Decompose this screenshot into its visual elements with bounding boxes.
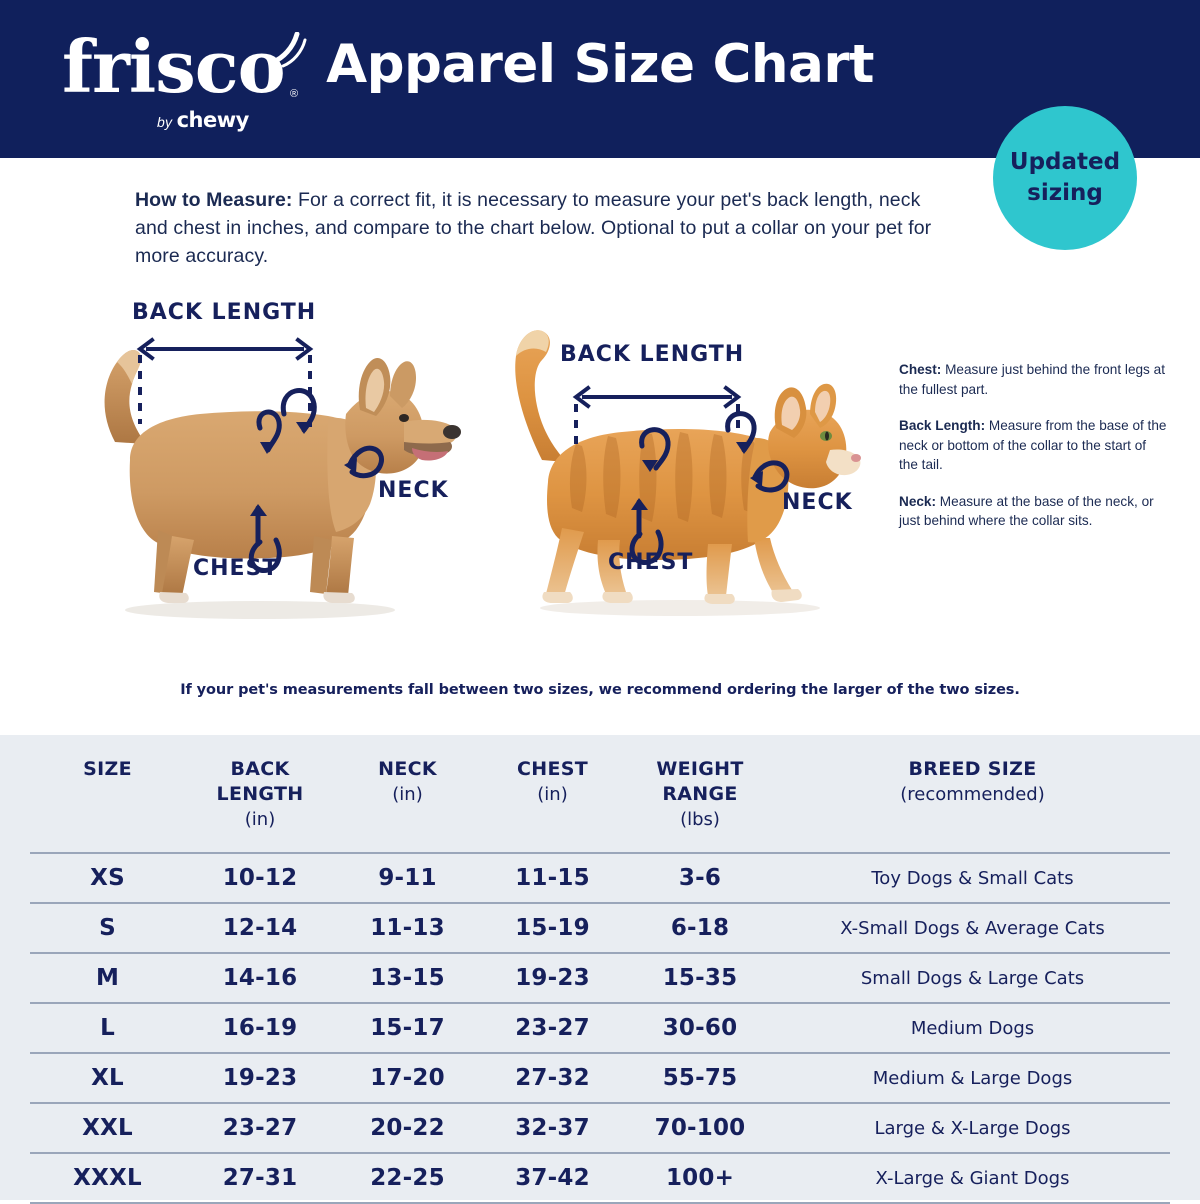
- cell-breed: Small Dogs & Large Cats: [775, 953, 1170, 1003]
- cell-size: L: [30, 1003, 185, 1053]
- cell-chest: 23-27: [480, 1003, 625, 1053]
- how-to-measure-paragraph: How to Measure: For a correct fit, it is…: [135, 186, 945, 270]
- cell-size: S: [30, 903, 185, 953]
- cell-chest: 27-32: [480, 1053, 625, 1103]
- cell-weight: 15-35: [625, 953, 775, 1003]
- cell-neck: 11-13: [335, 903, 480, 953]
- cell-neck: 22-25: [335, 1153, 480, 1203]
- cell-size: XS: [30, 853, 185, 903]
- cell-weight: 55-75: [625, 1053, 775, 1103]
- fit-recommendation-note: If your pet's measurements fall between …: [0, 682, 1200, 698]
- how-to-measure-label: How to Measure:: [135, 189, 293, 211]
- table-row: XXL 23-27 20-22 32-37 70-100 Large & X-L…: [30, 1103, 1170, 1153]
- table-row: XL 19-23 17-20 27-32 55-75 Medium & Larg…: [30, 1053, 1170, 1103]
- cell-weight: 3-6: [625, 853, 775, 903]
- column-header-chest: CHEST (in): [480, 735, 625, 853]
- logo-by-text: by: [157, 114, 172, 130]
- definition-chest-term: Chest:: [899, 362, 941, 377]
- column-header-weight-range-main: WEIGHT RANGE: [627, 757, 773, 807]
- cell-neck: 20-22: [335, 1103, 480, 1153]
- column-header-size: SIZE: [30, 735, 185, 853]
- size-table-header-row: SIZE BACK LENGTH (in) NECK (in) CHEST (i…: [30, 735, 1170, 853]
- column-header-chest-unit: (in): [482, 782, 623, 807]
- column-header-size-main: SIZE: [32, 757, 183, 782]
- cat-chest-label: CHEST: [608, 550, 693, 575]
- table-row: S 12-14 11-13 15-19 6-18 X-Small Dogs & …: [30, 903, 1170, 953]
- cell-weight: 70-100: [625, 1103, 775, 1153]
- column-header-back-length: BACK LENGTH (in): [185, 735, 335, 853]
- cell-chest: 37-42: [480, 1153, 625, 1203]
- cell-breed: Medium & Large Dogs: [775, 1053, 1170, 1103]
- column-header-back-length-main: BACK LENGTH: [187, 757, 333, 807]
- cell-breed: Toy Dogs & Small Cats: [775, 853, 1170, 903]
- cell-back-length: 16-19: [185, 1003, 335, 1053]
- cell-back-length: 23-27: [185, 1103, 335, 1153]
- column-header-neck: NECK (in): [335, 735, 480, 853]
- cell-size: M: [30, 953, 185, 1003]
- cell-breed: X-Large & Giant Dogs: [775, 1153, 1170, 1203]
- column-header-neck-main: NECK: [337, 757, 478, 782]
- cell-chest: 11-15: [480, 853, 625, 903]
- size-table-container: SIZE BACK LENGTH (in) NECK (in) CHEST (i…: [0, 735, 1200, 1200]
- definition-back-length-term: Back Length:: [899, 418, 985, 433]
- cell-neck: 9-11: [335, 853, 480, 903]
- table-row: XS 10-12 9-11 11-15 3-6 Toy Dogs & Small…: [30, 853, 1170, 903]
- cell-weight: 6-18: [625, 903, 775, 953]
- column-header-breed-size-main: BREED SIZE: [777, 757, 1168, 782]
- dog-chest-label: CHEST: [193, 556, 278, 581]
- cell-weight: 30-60: [625, 1003, 775, 1053]
- page-title: Apparel Size Chart: [0, 34, 1200, 95]
- updated-sizing-badge: Updated sizing: [993, 106, 1137, 250]
- cell-chest: 15-19: [480, 903, 625, 953]
- cell-back-length: 27-31: [185, 1153, 335, 1203]
- definition-neck: Neck: Measure at the base of the neck, o…: [899, 492, 1167, 531]
- cell-back-length: 12-14: [185, 903, 335, 953]
- size-table-head: SIZE BACK LENGTH (in) NECK (in) CHEST (i…: [30, 735, 1170, 853]
- cell-chest: 32-37: [480, 1103, 625, 1153]
- apparel-size-table: SIZE BACK LENGTH (in) NECK (in) CHEST (i…: [30, 735, 1170, 1204]
- column-header-neck-unit: (in): [337, 782, 478, 807]
- logo-byline: by chewy: [157, 108, 249, 132]
- badge-line-1: Updated: [1010, 147, 1120, 178]
- cell-breed: Medium Dogs: [775, 1003, 1170, 1053]
- cell-size: XXXL: [30, 1153, 185, 1203]
- size-table-body: XS 10-12 9-11 11-15 3-6 Toy Dogs & Small…: [30, 853, 1170, 1203]
- dog-back-length-label: BACK LENGTH: [132, 300, 316, 325]
- column-header-breed-size-unit: (recommended): [777, 782, 1168, 807]
- cell-neck: 17-20: [335, 1053, 480, 1103]
- cell-neck: 15-17: [335, 1003, 480, 1053]
- cell-weight: 100+: [625, 1153, 775, 1203]
- cell-size: XXL: [30, 1103, 185, 1153]
- cell-neck: 13-15: [335, 953, 480, 1003]
- cell-back-length: 19-23: [185, 1053, 335, 1103]
- dog-neck-label: NECK: [378, 478, 449, 503]
- cat-back-length-label: BACK LENGTH: [560, 342, 744, 367]
- column-header-weight-range-unit: (lbs): [627, 807, 773, 832]
- cat-neck-label: NECK: [782, 490, 853, 515]
- column-header-chest-main: CHEST: [482, 757, 623, 782]
- table-row: L 16-19 15-17 23-27 30-60 Medium Dogs: [30, 1003, 1170, 1053]
- cell-size: XL: [30, 1053, 185, 1103]
- table-row: XXXL 27-31 22-25 37-42 100+ X-Large & Gi…: [30, 1153, 1170, 1203]
- badge-line-2: sizing: [1027, 178, 1103, 209]
- cell-back-length: 14-16: [185, 953, 335, 1003]
- definition-neck-term: Neck:: [899, 494, 936, 509]
- column-header-breed-size: BREED SIZE (recommended): [775, 735, 1170, 853]
- definition-neck-text: Measure at the base of the neck, or just…: [899, 494, 1154, 529]
- measurement-definitions: Chest: Measure just behind the front leg…: [899, 360, 1167, 531]
- dog-measurement-overlay: [60, 292, 480, 632]
- dog-measurement-diagram: BACK LENGTH NECK CHEST: [60, 292, 480, 632]
- definition-chest: Chest: Measure just behind the front leg…: [899, 360, 1167, 399]
- definition-back-length: Back Length: Measure from the base of th…: [899, 416, 1167, 475]
- cell-back-length: 10-12: [185, 853, 335, 903]
- cell-chest: 19-23: [480, 953, 625, 1003]
- logo-chewy-text: chewy: [177, 108, 249, 132]
- column-header-weight-range: WEIGHT RANGE (lbs): [625, 735, 775, 853]
- cell-breed: Large & X-Large Dogs: [775, 1103, 1170, 1153]
- cat-measurement-diagram: BACK LENGTH NECK CHEST: [470, 312, 890, 630]
- column-header-back-length-unit: (in): [187, 807, 333, 832]
- cell-breed: X-Small Dogs & Average Cats: [775, 903, 1170, 953]
- table-row: M 14-16 13-15 19-23 15-35 Small Dogs & L…: [30, 953, 1170, 1003]
